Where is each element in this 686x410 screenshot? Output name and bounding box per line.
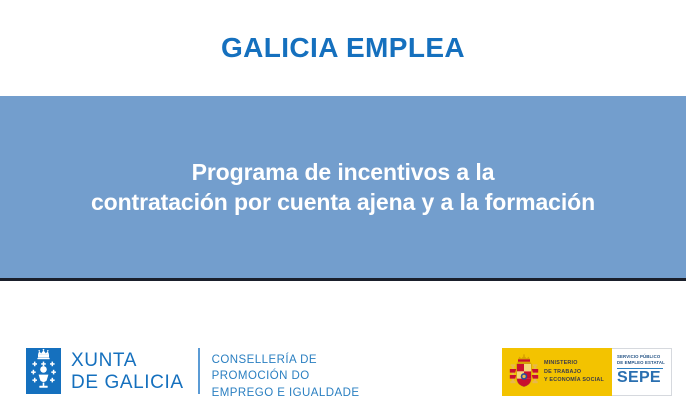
sepe-logo: SERVICIO PÚBLICO DE EMPLEO ESTATAL SEPE [612, 348, 672, 396]
xunta-wordmark-line-1: XUNTA [71, 350, 184, 372]
logo-divider [198, 348, 200, 394]
banner-text-block: Programa de incentivos a la contratación… [77, 157, 609, 218]
conselleria-text: CONSELLERÍA DE PROMOCIÓN DO EMPREGO E IG… [212, 348, 360, 401]
galicia-coat-of-arms-icon [26, 348, 61, 394]
page-title: GALICIA EMPLEA [221, 34, 465, 62]
gobierno-logos: MINISTERIO DE TRABAJO Y ECONOMÍA SOCIAL … [502, 348, 672, 396]
ministerio-line-1: MINISTERIO [544, 359, 604, 368]
sepe-subtitle-line-2: DE EMPLEO ESTATAL [617, 360, 667, 366]
spain-coat-of-arms-icon [509, 354, 539, 390]
xunta-de-galicia-logo: XUNTA DE GALICIA CONSELLERÍA DE PROMOCIÓ… [26, 348, 360, 401]
ministerio-logo: MINISTERIO DE TRABAJO Y ECONOMÍA SOCIAL [502, 348, 612, 396]
banner-line-1: Programa de incentivos a la [91, 157, 595, 187]
footer-logos: XUNTA DE GALICIA CONSELLERÍA DE PROMOCIÓ… [0, 284, 686, 410]
sepe-subtitle: SERVICIO PÚBLICO DE EMPLEO ESTATAL [617, 354, 667, 367]
xunta-wordmark-line-2: DE GALICIA [71, 372, 184, 394]
conselleria-line-3: EMPREGO E IGUALDADE [212, 385, 360, 401]
page-header: GALICIA EMPLEA [0, 0, 686, 96]
conselleria-line-2: PROMOCIÓN DO [212, 368, 360, 384]
ministerio-line-2: DE TRABAJO [544, 368, 604, 377]
sepe-acronym: SEPE [617, 370, 667, 387]
ministerio-line-3: Y ECONOMÍA SOCIAL [544, 376, 604, 385]
ministerio-text: MINISTERIO DE TRABAJO Y ECONOMÍA SOCIAL [544, 359, 604, 385]
banner-line-2: contratación por cuenta ajena y a la for… [91, 187, 595, 217]
xunta-wordmark: XUNTA DE GALICIA [71, 348, 184, 395]
conselleria-line-1: CONSELLERÍA DE [212, 352, 360, 368]
program-banner: Programa de incentivos a la contratación… [0, 96, 686, 281]
